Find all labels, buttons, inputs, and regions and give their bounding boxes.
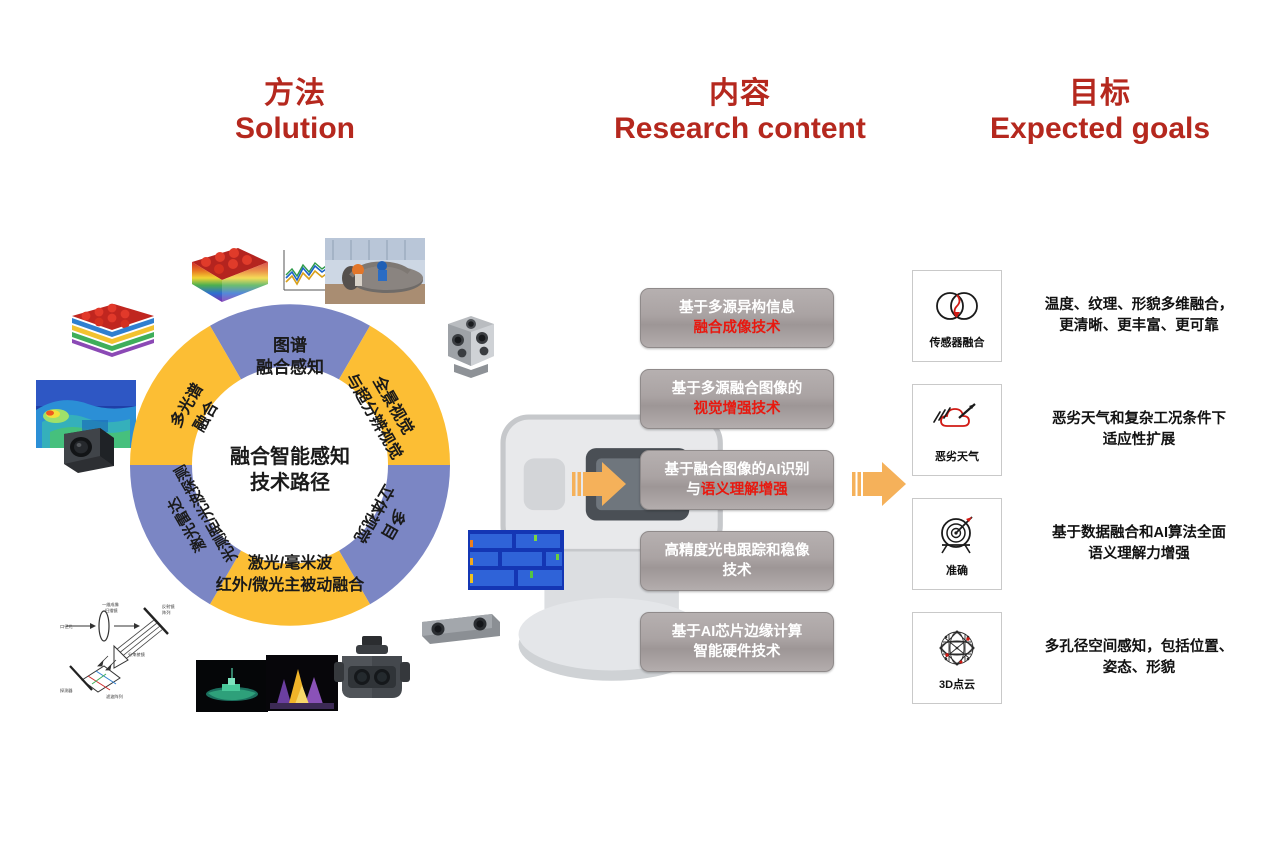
donut-chart-svg: 图谱 融合感知 全景视觉 与超分辨视觉 多目 立体视觉 激光/毫米波 红外/微光… [125,300,455,630]
overlapping-circles-icon [931,282,983,330]
content-box-line2: 智能硬件技术 [647,642,827,662]
content-box-line1: 高精度光电跟踪和稳像 [647,541,827,561]
content-box-multi-source-heterogeneous-fusion-imaging[interactable]: 基于多源异构信息 融合成像技术 [640,288,834,348]
donut-label-spectral-fusion-sensing-line1: 图谱 [273,335,307,355]
column-header-goals-en: Expected goals [950,111,1250,146]
content-box-line2-plain: 技术 [723,563,752,579]
target-dartboard-icon [931,510,983,558]
goal-text-line1: 基于数据融合和AI算法全面 [1028,523,1250,544]
eo-turret-thumbnail [330,632,414,716]
column-header-expected-goals: 目标 Expected goals [950,76,1250,147]
goal-text-sensor-fusion: 温度、纹理、形貌多维融合， 更清晰、更丰富、更可靠 [1028,295,1250,337]
content-box-line2: 视觉增强技术 [647,399,827,419]
column-header-content-en: Research content [595,111,885,146]
column-header-content-cn: 内容 [595,76,885,111]
content-box-line1: 基于AI芯片边缘计算 [647,622,827,642]
svg-text:口径光: 口径光 [60,623,73,630]
goal-icon-label-3d-point-cloud: 3D点云 [939,676,975,692]
industrial-pipeline-photo-thumbnail [325,238,425,304]
svg-text:一维成像: 一维成像 [102,601,120,608]
goal-row-3d-point-cloud: 3D点云 多孔径空间感知，包括位置、 姿态、形貌 [912,612,1252,704]
point-cloud-sphere-icon [931,624,983,672]
goal-text-line1: 温度、纹理、形貌多维融合， [1028,295,1250,316]
content-box-line1: 基于融合图像的AI识别 [647,460,827,480]
column-header-solution: 方法 Solution [170,76,420,147]
expected-goals-column: 传感器融合 温度、纹理、形貌多维融合， 更清晰、更丰富、更可靠 恶劣天气 恶劣天… [912,270,1252,726]
goal-text-line1: 多孔径空间感知，包括位置、 [1028,637,1250,658]
svg-text:探测器: 探测器 [60,687,73,694]
right-arrow-icon [852,458,908,510]
donut-label-spectral-fusion-sensing-line2: 融合感知 [256,357,324,377]
right-arrow-icon [572,458,628,510]
donut-label-laser-mmwave-ir-lowlight-fusion-line2: 红外/微光主被动融合 [216,575,365,594]
goal-text-3d-point-cloud: 多孔径空间感知，包括位置、 姿态、形貌 [1028,637,1250,679]
column-header-solution-cn: 方法 [170,76,420,111]
content-box-line2-highlight: 语义理解增强 [701,482,788,498]
content-box-line1: 基于多源融合图像的 [647,379,827,399]
goal-icon-label-sensor-fusion: 传感器融合 [930,334,985,350]
goal-text-line2: 姿态、形貌 [1028,658,1250,679]
goal-text-line1: 恶劣天气和复杂工况条件下 [1028,409,1250,430]
content-box-visual-enhancement[interactable]: 基于多源融合图像的 视觉增强技术 [640,369,834,429]
eo-turret-icon [330,632,414,716]
svg-text:分束棱镜: 分束棱镜 [128,651,146,658]
content-box-line2: 融合成像技术 [647,318,827,338]
content-box-line2-highlight: 视觉增强技术 [694,401,781,417]
content-box-line2-plain: 智能硬件技术 [694,644,781,660]
content-box-line2-plain: 与 [686,482,701,498]
thermal-structure-icon [266,655,338,711]
goal-row-accuracy: 准确 基于数据融合和AI算法全面 语义理解力增强 [912,498,1252,590]
goal-icon-label-severe-weather: 恶劣天气 [935,448,979,464]
thermal-structure-thumbnail [266,655,338,711]
donut-center-title-line1: 融合智能感知 [230,444,350,468]
donut-label-laser-mmwave-ir-lowlight-fusion-line1: 激光/毫米波 [248,553,333,572]
goal-icon-label-accuracy: 准确 [946,562,968,578]
goal-row-sensor-fusion: 传感器融合 温度、纹理、形貌多维融合， 更清晰、更丰富、更可靠 [912,270,1252,362]
column-header-solution-en: Solution [170,111,420,146]
svg-text:滤波阵列: 滤波阵列 [106,693,123,700]
goal-icon-box-accuracy[interactable]: 准确 [912,498,1002,590]
column-header-research-content: 内容 Research content [595,76,885,147]
content-box-line2: 与语义理解增强 [647,480,827,500]
industrial-camera-thumbnail [52,418,124,480]
goal-icon-box-3d-point-cloud[interactable]: 3D点云 [912,612,1002,704]
lowlight-ship-icon [196,660,268,712]
goal-text-line2: 语义理解力增强 [1028,544,1250,565]
goal-text-line2: 适应性扩展 [1028,430,1250,451]
content-box-line2-highlight: 融合成像技术 [694,320,781,336]
goal-text-accuracy: 基于数据融合和AI算法全面 语义理解力增强 [1028,523,1250,565]
arrow-content-to-goals [852,458,908,510]
technology-roadmap-donut: 图谱 融合感知 全景视觉 与超分辨视觉 多目 立体视觉 激光/毫米波 红外/微光… [125,300,455,630]
content-box-ai-recognition-semantic-understanding[interactable]: 基于融合图像的AI识别 与语义理解增强 [640,450,834,510]
goal-icon-box-severe-weather[interactable]: 恶劣天气 [912,384,1002,476]
lowlight-ship-thumbnail [196,660,268,712]
goal-icon-box-sensor-fusion[interactable]: 传感器融合 [912,270,1002,362]
depth-map-icon [468,530,564,590]
goal-row-severe-weather: 恶劣天气 恶劣天气和复杂工况条件下 适应性扩展 [912,384,1252,476]
column-header-goals-cn: 目标 [950,76,1250,111]
goal-text-severe-weather: 恶劣天气和复杂工况条件下 适应性扩展 [1028,409,1250,451]
content-box-high-precision-tracking-stabilization[interactable]: 高精度光电跟踪和稳像 技术 [640,531,834,591]
svg-text:扫描镜: 扫描镜 [105,607,118,614]
content-box-line2: 技术 [647,561,827,581]
research-content-column: 基于多源异构信息 融合成像技术 基于多源融合图像的 视觉增强技术 基于融合图像的… [640,288,834,693]
industrial-pipeline-photo-icon [325,238,425,304]
arrow-solution-to-content [572,458,628,510]
content-box-line1: 基于多源异构信息 [647,298,827,318]
goal-text-line2: 更清晰、更丰富、更可靠 [1028,316,1250,337]
rain-cloud-icon [931,396,983,444]
depth-map-thumbnail [468,530,564,590]
donut-center-title-line2: 技术路径 [250,470,330,494]
industrial-camera-icon [52,418,124,480]
content-box-ai-chip-edge-computing-hardware[interactable]: 基于AI芯片边缘计算 智能硬件技术 [640,612,834,672]
